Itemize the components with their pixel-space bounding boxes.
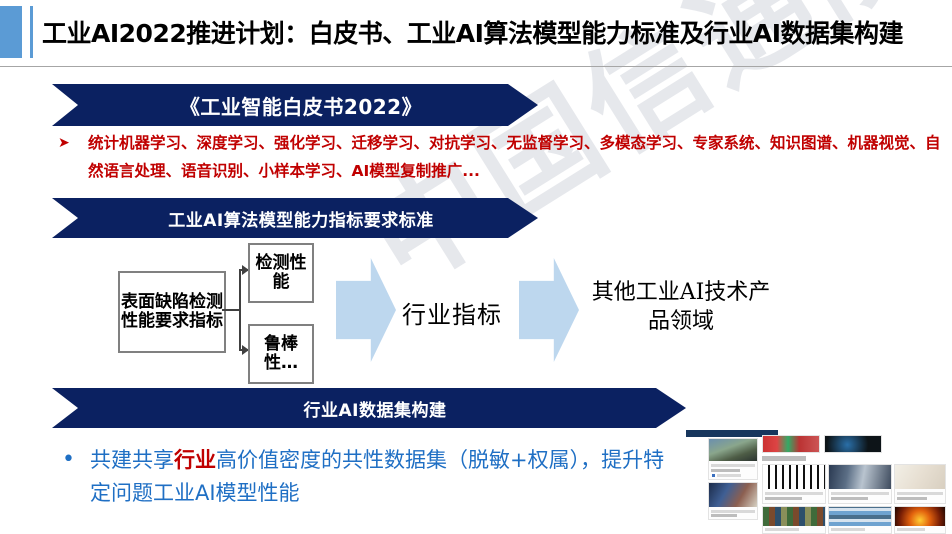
collage-meta [831,497,868,500]
collage-meta [765,528,799,531]
dataset-bullet-prefix: 共建共享 [90,448,174,472]
header-accent-bar [0,6,22,58]
collage-meta [831,492,889,495]
collage-meta [711,469,740,472]
collage-thumb [895,465,945,489]
collage-card [762,464,826,504]
block-arrow-right-icon-2 [519,258,579,362]
collage-thumb [895,507,945,526]
arrow-bullet-icon: ➤ [58,129,70,157]
collage-card [894,506,946,534]
collage-card [894,464,946,504]
collage-card [828,464,892,504]
diagram-end-label: 其他工业AI技术产品领域 [586,278,776,336]
slide-canvas: 中国信通院 工业AI2022推进计划：白皮书、工业AI算法模型能力标准及行业AI… [0,0,952,534]
block-arrow-right-icon-1 [336,258,396,362]
collage-meta [711,514,737,517]
diagram-middle-label: 行业指标 [402,295,502,330]
connector-vertical [239,270,241,350]
dataset-bullet-highlight: 行业 [174,448,216,472]
collage-thumb [829,507,891,526]
collage-thumb [709,483,757,507]
header-accent-line [30,6,33,58]
diagram-main-box: 表面缺陷检测性能要求指标 [118,271,226,353]
diagram-branch-box-detection: 检测性能 [248,243,314,303]
collage-caption-bar [762,456,806,461]
banner-algo-standard: 工业AI算法模型能力指标要求标准 [52,198,538,238]
banner-whitepaper-label: 《工业智能白皮书2022》 [180,91,422,120]
collage-card [828,506,892,534]
collage-card [762,506,826,534]
page-title: 工业AI2022推进计划：白皮书、工业AI算法模型能力标准及行业AI数据集构建 [42,14,903,50]
dataset-thumbnail-collage [686,430,948,534]
collage-meta [711,510,755,513]
collage-thumb [709,439,757,461]
collage-meta [897,497,927,500]
connector-horizontal [222,309,240,311]
collage-meta [831,528,865,531]
collage-meta [717,474,741,477]
collage-thumb [763,507,825,526]
collage-meta [711,464,755,467]
collage-dot [712,474,715,477]
diagram-branch-box-robustness: 鲁棒性… [248,324,314,384]
collage-meta [765,492,823,495]
banner-algo-standard-label: 工业AI算法模型能力指标要求标准 [168,206,433,231]
collage-meta [897,528,925,531]
collage-thumb [763,465,825,489]
collage-card [708,482,758,520]
collage-card [708,438,758,480]
dataset-bullet: • 共建共享行业高价值密度的共性数据集（脱敏+权属），提升特定问题工业AI模型性… [62,444,672,510]
diagram-branch-box-robustness-label: 鲁棒性… [250,335,312,373]
round-bullet-icon: • [62,443,75,476]
collage-card [762,435,820,453]
banner-dataset: 行业AI数据集构建 [52,388,686,428]
collage-thumb [829,465,891,489]
collage-thumb [763,436,819,452]
dataset-bullet-text: 共建共享行业高价值密度的共性数据集（脱敏+权属），提升特定问题工业AI模型性能 [90,444,672,510]
collage-thumb [825,436,881,452]
collage-card [824,435,882,453]
collage-meta [765,497,802,500]
whitepaper-bullet-text: 统计机器学习、深度学习、强化学习、迁移学习、对抗学习、无监督学习、多模态学习、专… [88,129,942,185]
banner-whitepaper: 《工业智能白皮书2022》 [52,84,538,126]
banner-dataset-label: 行业AI数据集构建 [304,396,447,421]
whitepaper-bullet: ➤ 统计机器学习、深度学习、强化学习、迁移学习、对抗学习、无监督学习、多模态学习… [58,129,942,185]
diagram-main-box-label: 表面缺陷检测性能要求指标 [120,293,224,331]
header-divider [0,66,952,67]
diagram-branch-box-detection-label: 检测性能 [250,254,312,292]
collage-meta [897,492,943,495]
